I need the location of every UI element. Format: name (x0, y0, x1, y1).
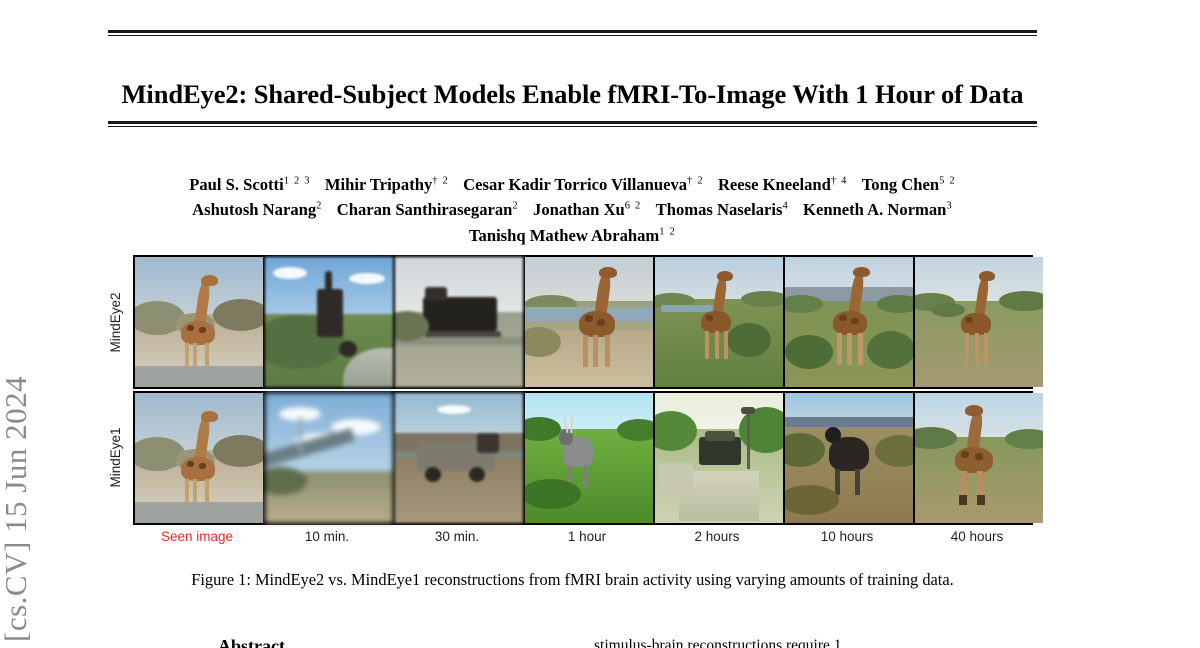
giraffe-hoof (959, 495, 967, 505)
giraffe-spot (851, 318, 859, 324)
cell-mindeye2-10hours[interactable] (785, 257, 913, 387)
author-affiliation: 4 (782, 201, 788, 212)
paper-column: MindEye2: Shared-Subject Models Enable f… (108, 0, 1200, 648)
row-label-group: MindEye2 MindEye1 (108, 255, 133, 525)
pole (299, 417, 302, 453)
author-name: Charan Santhirasegaran (337, 200, 513, 219)
author-name: Ashutosh Narang (192, 200, 316, 219)
row-label-mindeye1: MindEye1 (108, 390, 130, 525)
truck-body (699, 437, 741, 465)
cloud (349, 273, 385, 284)
author-name: Kenneth A. Norman (803, 200, 946, 219)
giraffe-leg (847, 333, 852, 365)
cell-mindeye2-10min[interactable] (265, 257, 393, 387)
giraffe-leg (984, 333, 988, 363)
author-line-1: Paul S. Scotti1 2 3 Mihir Tripathy† 2 Ce… (108, 170, 1037, 196)
giraffe-spot (966, 317, 973, 323)
column-label-10min: 10 min. (263, 529, 391, 544)
abstract-heading: Abstract (218, 636, 285, 648)
cell-mindeye1-1hour[interactable] (525, 393, 653, 523)
vegetation (617, 419, 653, 441)
giraffe-body (181, 457, 215, 481)
column-label-40hours: 40 hours (913, 529, 1041, 544)
giraffe-body (961, 313, 991, 335)
giraffe-spot (187, 325, 194, 331)
structure (659, 463, 693, 493)
author-entry: Tong Chen5 2 (862, 175, 956, 194)
vehicle-wheel (425, 467, 441, 482)
author-affiliation: † 2 (687, 175, 704, 186)
author-affiliation: 2 (512, 201, 518, 212)
vegetation (877, 295, 913, 313)
cell-mindeye1-seen-image[interactable] (135, 393, 263, 523)
giraffe-leg (975, 333, 979, 363)
cell-mindeye2-seen-image[interactable] (135, 257, 263, 387)
giraffe-leg (593, 335, 598, 367)
cell-mindeye1-40hours[interactable] (915, 393, 1043, 523)
machine-wheel (339, 341, 357, 357)
giraffe-spot (961, 451, 969, 458)
grid-row-mindeye2 (133, 255, 1033, 389)
lamp-head (741, 407, 755, 414)
vegetation (727, 323, 771, 357)
author-name: Tong Chen (862, 175, 939, 194)
giraffe-spot (706, 315, 713, 321)
column-label-seen-image: Seen image (133, 529, 261, 544)
author-name: Mihir Tripathy (325, 175, 432, 194)
giraffe-body (955, 447, 993, 473)
page-title: MindEye2: Shared-Subject Models Enable f… (108, 80, 1037, 109)
author-entry: Reese Kneeland† 4 (718, 175, 848, 194)
vegetation (999, 291, 1043, 311)
author-block: Paul S. Scotti1 2 3 Mihir Tripathy† 2 Ce… (108, 170, 1037, 247)
cloud (273, 267, 307, 279)
author-entry: Kenneth A. Norman3 (803, 200, 953, 219)
title-rule-bottom (108, 121, 1037, 127)
author-name: Thomas Naselaris (656, 200, 783, 219)
author-name: Tanishq Mathew Abraham (469, 226, 659, 245)
giraffe-head (965, 405, 983, 416)
train-body (423, 297, 497, 331)
author-name: Jonathan Xu (533, 200, 625, 219)
giraffe-spot (839, 315, 847, 321)
abstract-right-column-fragment: stimulus-brain reconstructions require 1 (594, 637, 1037, 648)
cell-mindeye2-30min[interactable] (395, 257, 523, 387)
title-rule-top (108, 30, 1037, 36)
giraffe-leg (858, 333, 863, 365)
animal-leg (855, 469, 860, 495)
arxiv-stamp-text: [cs.CV] 15 Jun 2024 (0, 376, 34, 642)
author-entry: Jonathan Xu6 2 (533, 200, 642, 219)
author-affiliation: 5 2 (939, 175, 956, 186)
machine-stack (325, 271, 332, 293)
vegetation (785, 335, 833, 369)
giraffe-head (201, 275, 218, 286)
giraffe-leg (193, 479, 197, 505)
waterline (135, 502, 263, 523)
author-affiliation: † 2 (432, 175, 449, 186)
giraffe-head (979, 271, 995, 281)
column-label-30min: 30 min. (393, 529, 521, 544)
column-label-10hours: 10 hours (783, 529, 911, 544)
author-affiliation: 2 (316, 201, 322, 212)
author-name: Reese Kneeland (718, 175, 831, 194)
cell-mindeye2-1hour[interactable] (525, 257, 653, 387)
giraffe-head (201, 411, 218, 422)
vegetation (931, 303, 965, 317)
author-entry: Cesar Kadir Torrico Villanueva† 2 (463, 175, 704, 194)
animal-leg (835, 469, 840, 495)
cloud (437, 405, 471, 414)
reconstruction-grid: MindEye2 MindEye1 (133, 255, 1033, 525)
figure-caption: Figure 1: MindEye2 vs. MindEye1 reconstr… (108, 570, 1037, 590)
giraffe-body (701, 311, 731, 333)
author-line-2: Ashutosh Narang2 Charan Santhirasegaran2… (108, 196, 1037, 222)
author-line-3: Tanishq Mathew Abraham1 2 (108, 221, 1037, 247)
column-label-1hour: 1 hour (523, 529, 651, 544)
giraffe-spot (199, 463, 206, 469)
author-affiliation: 3 (946, 201, 952, 212)
giraffe-leg (965, 333, 969, 363)
giraffe-spot (975, 453, 983, 460)
author-entry: Paul S. Scotti1 2 3 (189, 175, 311, 194)
author-affiliation: † 4 (831, 175, 848, 186)
giraffe-spot (597, 319, 605, 326)
giraffe-head (599, 267, 617, 278)
vegetation (213, 435, 263, 467)
train-cab (425, 287, 447, 301)
figure-1: MindEye2 MindEye1 (108, 255, 1037, 544)
column-label-2hours: 2 hours (653, 529, 781, 544)
author-entry: Charan Santhirasegaran2 (337, 200, 519, 219)
vegetation (867, 331, 913, 369)
giraffe-spot (199, 327, 206, 333)
cell-mindeye2-40hours[interactable] (915, 257, 1043, 387)
waterline (135, 366, 263, 387)
giraffe-hoof (977, 495, 985, 505)
giraffe-leg (205, 479, 209, 505)
author-entry: Thomas Naselaris4 (656, 200, 789, 219)
author-affiliation: 6 2 (625, 201, 642, 212)
cell-mindeye1-10min[interactable] (265, 393, 393, 523)
giraffe-head (853, 267, 870, 277)
antelope-leg (583, 465, 587, 489)
giraffe-spot (187, 461, 194, 467)
cell-mindeye1-10hours[interactable] (785, 393, 913, 523)
author-name: Paul S. Scotti (189, 175, 284, 194)
giraffe-head (717, 271, 733, 281)
author-entry: Ashutosh Narang2 (192, 200, 322, 219)
author-name: Cesar Kadir Torrico Villanueva (463, 175, 687, 194)
cell-mindeye2-2hours[interactable] (655, 257, 783, 387)
giraffe-leg (185, 343, 189, 369)
cell-mindeye1-30min[interactable] (395, 393, 523, 523)
giraffe-leg (837, 333, 842, 365)
giraffe-leg (583, 335, 588, 367)
vehicle-wheel (469, 467, 485, 482)
giraffe-body (833, 311, 867, 335)
arxiv-stamp: [cs.CV] 15 Jun 2024 (0, 0, 108, 648)
abstract-section-peek: Abstract stimulus-brain reconstructions … (108, 636, 1037, 648)
animal-head (825, 427, 841, 443)
author-affiliation: 1 2 (659, 226, 676, 237)
machine-body (317, 289, 343, 337)
row-label-mindeye2: MindEye2 (108, 255, 130, 390)
truck-cab (705, 431, 735, 441)
author-affiliation: 1 2 3 (284, 175, 311, 186)
vegetation (741, 291, 783, 307)
vehicle-cab (477, 433, 499, 453)
utility-pole (747, 411, 750, 469)
author-entry: Mihir Tripathy† 2 (325, 175, 449, 194)
cell-mindeye1-2hours[interactable] (655, 393, 783, 523)
giraffe-leg (705, 331, 709, 359)
distant-hills (785, 417, 913, 427)
giraffe-leg (715, 331, 719, 359)
giraffe-leg (205, 343, 209, 369)
author-entry: Tanishq Mathew Abraham1 2 (469, 226, 676, 245)
column-label-group: Seen image 10 min. 30 min. 1 hour 2 hour… (133, 529, 1033, 544)
giraffe-leg (605, 335, 610, 367)
vegetation (213, 299, 263, 331)
giraffe-spot (585, 315, 593, 322)
grid-row-mindeye1 (133, 391, 1033, 525)
giraffe-leg (185, 479, 189, 505)
giraffe-leg (724, 331, 728, 359)
giraffe-leg (193, 343, 197, 369)
giraffe-body (181, 321, 215, 345)
